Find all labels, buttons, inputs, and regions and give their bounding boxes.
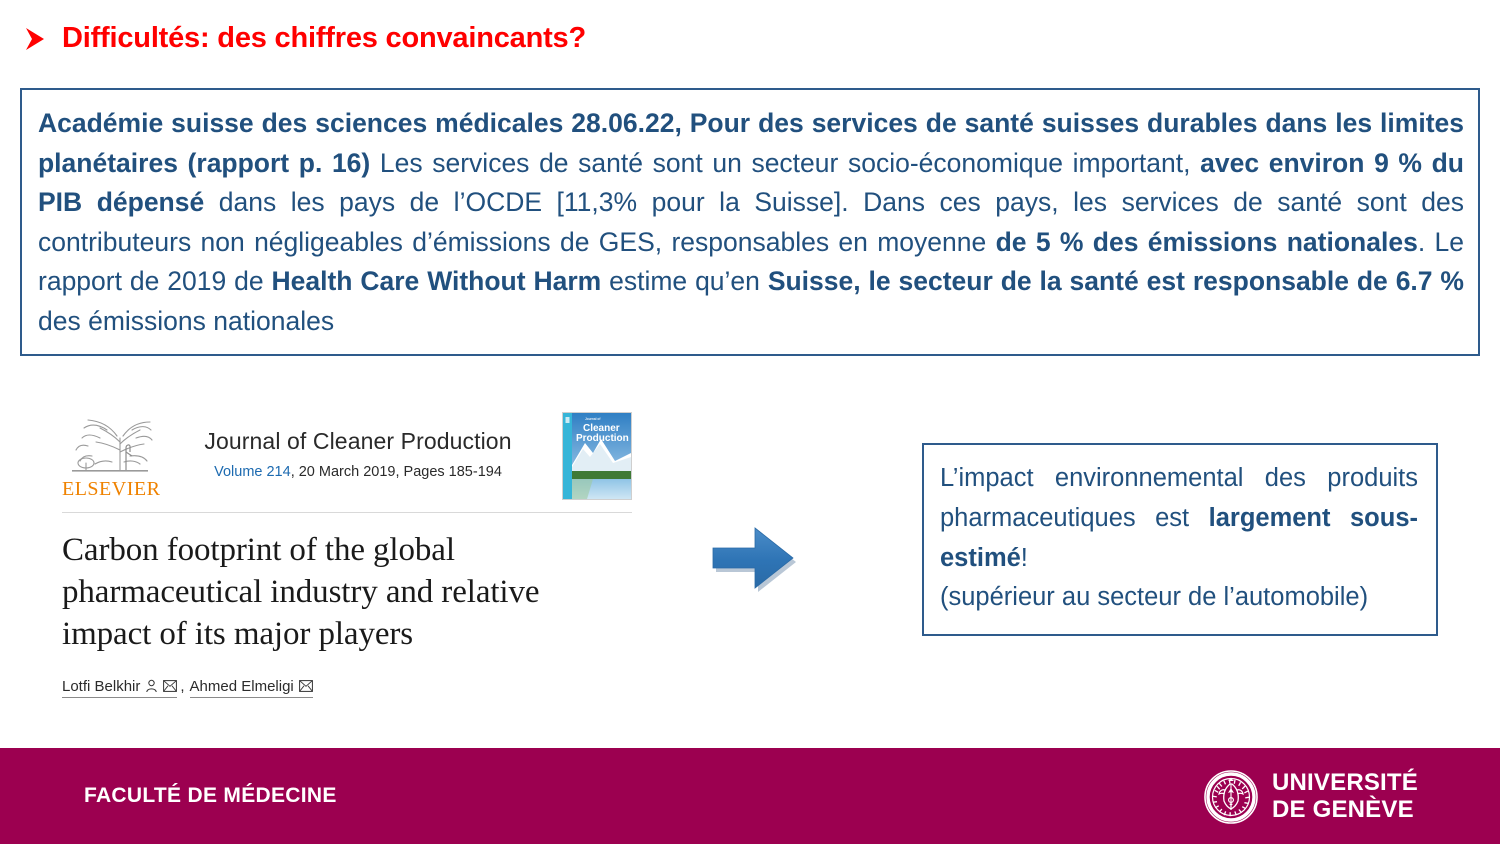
envelope-icon	[299, 680, 313, 692]
author-separator: ,	[179, 678, 187, 697]
quote-source-line1: Académie suisse des sciences médicales 2…	[38, 108, 1139, 138]
university-logo: UNIVERSITÉ DE GENÈVE	[1204, 770, 1418, 824]
author-name-1: Lotfi Belkhir	[62, 678, 140, 695]
elsevier-logo: ELSEVIER	[62, 412, 160, 499]
right-arrow-icon	[707, 522, 799, 594]
journal-name: Journal of Cleaner Production	[160, 428, 556, 455]
quote-body-part-5: des émissions nationales	[38, 306, 334, 336]
arrowhead-bullet-icon	[22, 24, 48, 54]
page-title: Difficultés: des chiffres convaincants?	[22, 22, 586, 55]
conclusion-text: L’impact environnemental des produits ph…	[940, 459, 1418, 578]
svg-text:Production: Production	[576, 433, 629, 444]
journal-meta: Journal of Cleaner Production Volume 214…	[160, 412, 556, 480]
journal-volume-link[interactable]: Volume 214	[214, 464, 291, 480]
page-title-text: Difficultés: des chiffres convaincants?	[62, 22, 586, 55]
journal-issue-rest: , 20 March 2019, Pages 185-194	[291, 464, 502, 480]
unige-seal-icon	[1204, 770, 1258, 824]
quote-body-part-1: Les services de santé sont un secteur so…	[380, 148, 1200, 178]
elsevier-wordmark: ELSEVIER	[62, 479, 160, 499]
journal-issue: Volume 214, 20 March 2019, Pages 185-194	[160, 464, 556, 480]
journal-article-screenshot: ELSEVIER Journal of Cleaner Production V…	[62, 412, 632, 698]
person-icon	[145, 679, 158, 693]
quote-body-bold-4: Suisse, le secteur de la santé est respo…	[768, 266, 1464, 296]
university-wordmark: UNIVERSITÉ DE GENÈVE	[1272, 770, 1418, 824]
author-link-1[interactable]: Lotfi Belkhir	[62, 678, 177, 698]
journal-header: ELSEVIER Journal of Cleaner Production V…	[62, 412, 632, 504]
quote-box: Académie suisse des sciences médicales 2…	[20, 88, 1480, 356]
elsevier-tree-icon	[62, 412, 156, 478]
university-line-1: UNIVERSITÉ	[1272, 770, 1418, 797]
conclusion-part-2: !	[1021, 544, 1028, 572]
article-authors: Lotfi Belkhir , Ahmed Elmeligi	[62, 678, 632, 698]
conclusion-text-secondary: (supérieur au secteur de l’automobile)	[940, 578, 1418, 618]
divider	[62, 512, 632, 513]
faculty-label: FACULTÉ DE MÉDECINE	[84, 784, 337, 808]
author-link-2[interactable]: Ahmed Elmeligi	[190, 678, 313, 698]
journal-cover-thumbnail: Cleaner Production Journal of	[562, 412, 632, 500]
author-name-2: Ahmed Elmeligi	[190, 678, 294, 695]
quote-body-bold-2: de 5 % des émissions nationales	[996, 227, 1418, 257]
university-line-2: DE GENÈVE	[1272, 797, 1418, 824]
envelope-icon	[163, 680, 177, 692]
conclusion-box: L’impact environnemental des produits ph…	[922, 443, 1438, 636]
journal-cover-art: Cleaner Production Journal of	[563, 413, 631, 499]
article-title: Carbon footprint of the global pharmaceu…	[62, 529, 632, 656]
quote-text: Académie suisse des sciences médicales 2…	[38, 104, 1464, 342]
svg-text:Journal of: Journal of	[585, 417, 601, 421]
footer-bar: FACULTÉ DE MÉDECINE	[0, 748, 1500, 844]
quote-body-bold-3: Health Care Without Harm	[271, 266, 601, 296]
quote-body-part-4: estime qu’en	[601, 266, 768, 296]
